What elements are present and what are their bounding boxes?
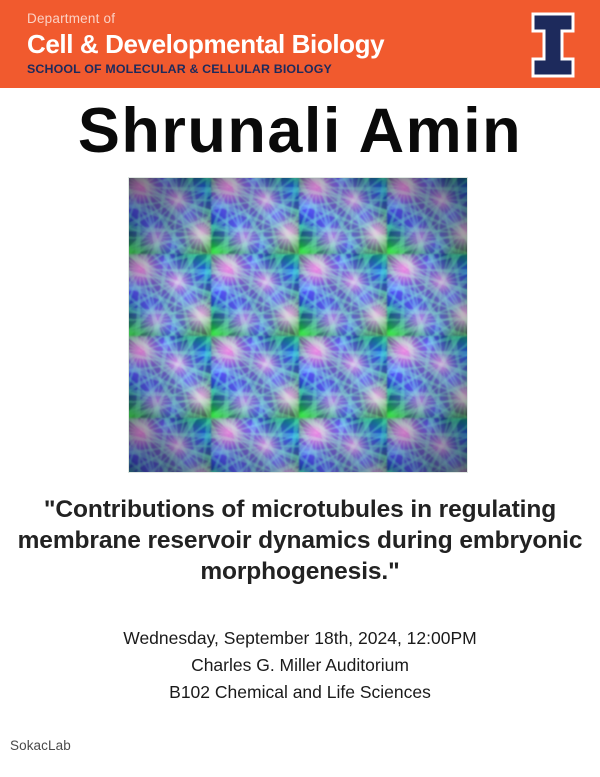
header-band: Department of Cell & Developmental Biolo… — [0, 0, 600, 88]
school-name: SCHOOL OF MOLECULAR & CELLULAR BIOLOGY — [27, 61, 507, 77]
header-text-block: Department of Cell & Developmental Biolo… — [27, 10, 507, 77]
department-name: Cell & Developmental Biology — [27, 29, 507, 59]
micrograph-filament-texture — [128, 177, 468, 473]
talk-title: "Contributions of microtubules in regula… — [14, 494, 586, 587]
event-room: B102 Chemical and Life Sciences — [0, 679, 600, 706]
event-details: Wednesday, September 18th, 2024, 12:00PM… — [0, 625, 600, 706]
lab-credit: SokacLab — [10, 738, 71, 754]
event-datetime: Wednesday, September 18th, 2024, 12:00PM — [0, 625, 600, 652]
illinois-block-i-logo — [531, 12, 575, 78]
department-eyebrow: Department of — [27, 10, 507, 27]
block-i-icon — [531, 12, 575, 78]
figure-frame — [128, 177, 468, 473]
event-venue: Charles G. Miller Auditorium — [0, 652, 600, 679]
speaker-name: Shrunali Amin — [0, 98, 600, 164]
